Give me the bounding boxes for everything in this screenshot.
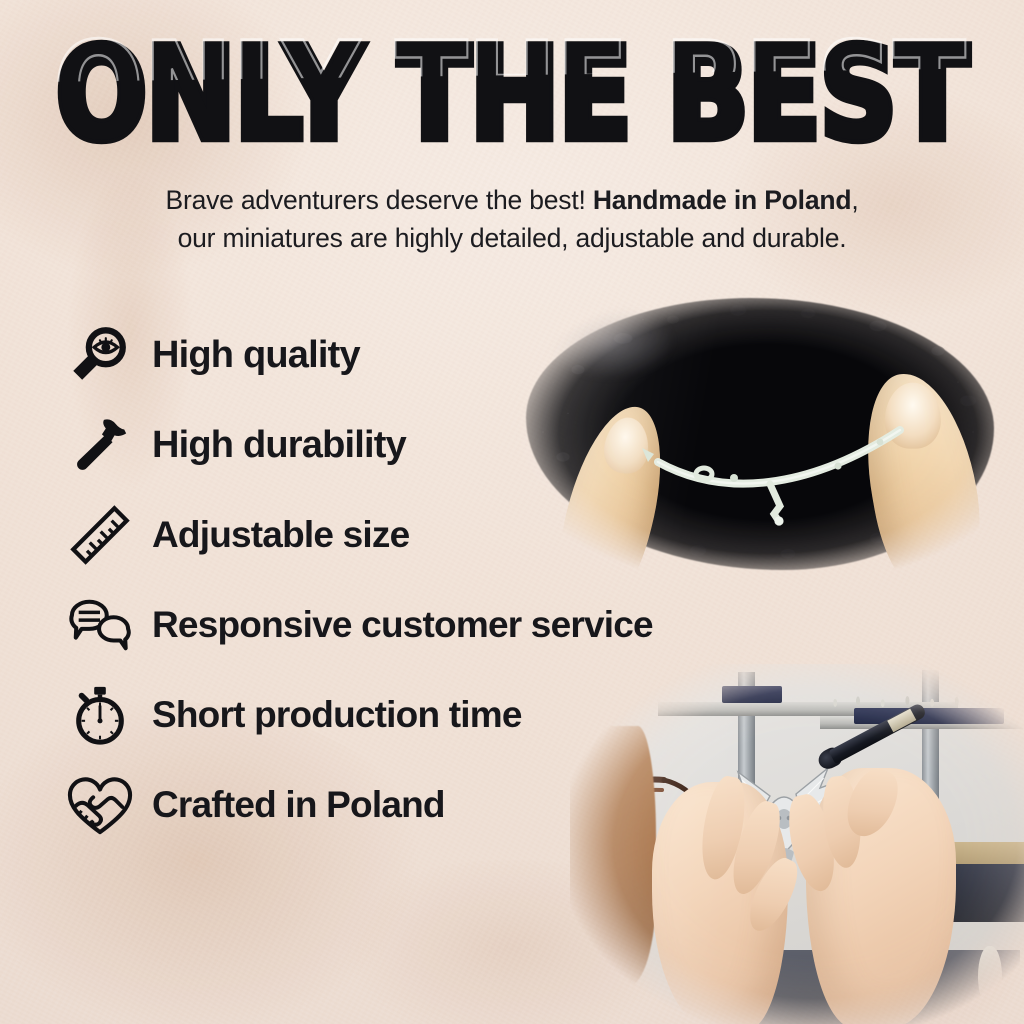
feature-label: High quality (152, 334, 360, 377)
subtitle-tail: , (851, 185, 858, 215)
magnifier-eye-icon (62, 317, 138, 393)
left-hand (652, 782, 788, 1024)
feature-label: Short production time (152, 694, 522, 736)
subtitle: Brave adventurers deserve the best! Hand… (92, 182, 932, 257)
stopwatch-icon (62, 677, 138, 753)
promo-poster: ONLY THE BEST ONLY THE BEST Brave advent… (0, 0, 1024, 1024)
subtitle-emphasis: Handmade in Poland (593, 185, 852, 215)
resin-miniature-part (508, 276, 1008, 588)
unpainted-miniature (978, 946, 1002, 998)
workshop-painting-photo (570, 664, 1024, 1024)
subtitle-line-2: our miniatures are highly detailed, adju… (178, 223, 847, 253)
torn-edge-tan (570, 726, 656, 986)
handshake-heart-icon (62, 767, 138, 843)
ruler-icon (62, 497, 138, 573)
subtitle-lead: Brave adventurers deserve the best! (165, 185, 592, 215)
speech-bubbles-icon (62, 587, 138, 663)
feature-label: High durability (152, 424, 406, 467)
hammer-icon (62, 407, 138, 483)
feature-label: Crafted in Poland (152, 784, 445, 826)
feature-label: Responsive customer service (152, 604, 653, 646)
parts-tray-top (722, 686, 782, 703)
page-title: ONLY THE BEST (0, 31, 1024, 158)
flexible-miniature-photo (508, 276, 1008, 588)
right-hand (806, 768, 956, 1024)
feature-item-customer-service: Responsive customer service (62, 580, 762, 670)
feature-label: Adjustable size (152, 514, 409, 556)
